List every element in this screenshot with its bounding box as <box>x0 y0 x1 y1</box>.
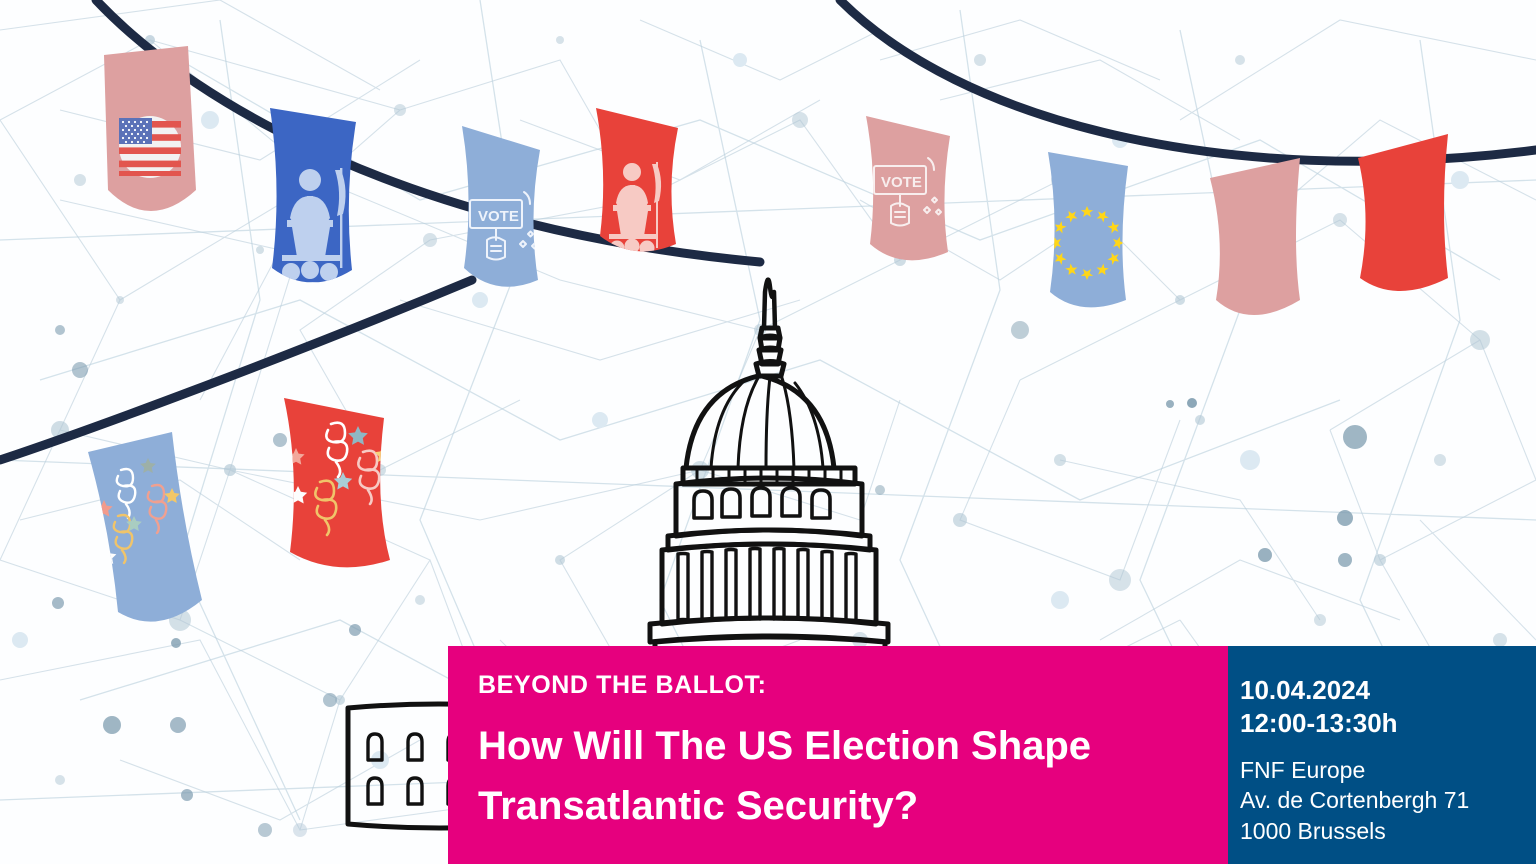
event-kicker: BEYOND THE BALLOT: <box>478 672 1228 700</box>
event-title-line-2: Transatlantic Security? <box>478 776 1228 837</box>
venue-name: FNF Europe <box>1240 755 1536 786</box>
venue-city: 1000 Brussels <box>1240 816 1536 847</box>
event-date: 10.04.2024 <box>1240 674 1536 707</box>
event-details-panel: 10.04.2024 12:00-13:30h FNF Europe Av. d… <box>1228 646 1536 864</box>
title-banner: BEYOND THE BALLOT: How Will The US Elect… <box>448 646 1228 864</box>
event-poster: VOTE <box>0 0 1536 864</box>
event-time: 12:00-13:30h <box>1240 707 1536 740</box>
venue-block: FNF Europe Av. de Cortenbergh 71 1000 Br… <box>1240 755 1536 847</box>
event-title-line-1: How Will The US Election Shape <box>478 716 1228 777</box>
venue-street: Av. de Cortenbergh 71 <box>1240 785 1536 816</box>
